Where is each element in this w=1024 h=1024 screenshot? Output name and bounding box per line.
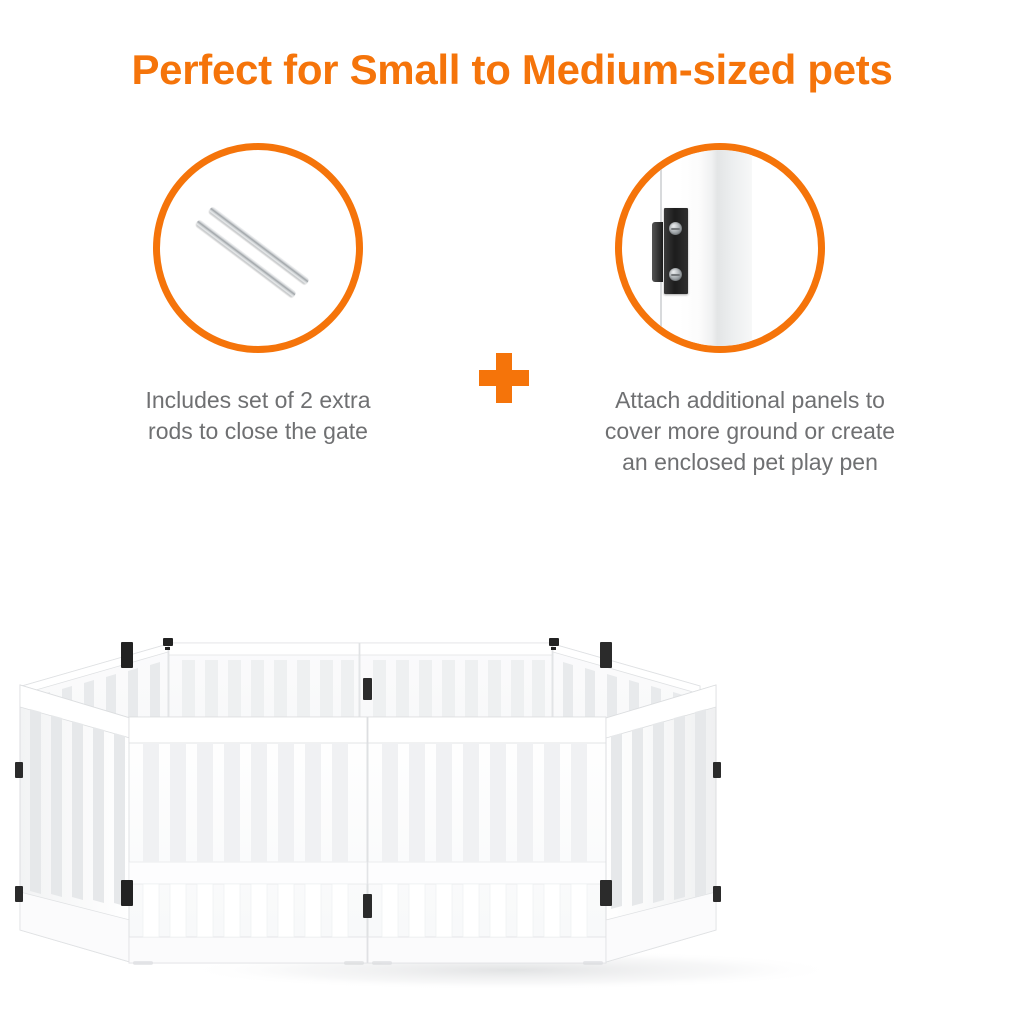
hinge-caption-line-2: cover more ground or create bbox=[520, 416, 980, 447]
hinge-closeup-icon bbox=[622, 150, 818, 346]
hinge-caption: Attach additional panels to cover more g… bbox=[520, 385, 980, 478]
folding-pet-gate-illustration bbox=[0, 500, 1024, 1000]
gate-post-icon bbox=[680, 143, 752, 353]
plus-icon-vertical-bar bbox=[496, 353, 512, 403]
hinge-caption-line-1: Attach additional panels to bbox=[520, 385, 980, 416]
hinge-circle-frame bbox=[615, 143, 825, 353]
rods-caption-line-1: Includes set of 2 extra bbox=[40, 385, 476, 416]
screw-icon bbox=[669, 268, 682, 281]
gate-panel-left-side bbox=[15, 685, 130, 962]
hinge-plate-icon bbox=[664, 208, 688, 294]
rods-circle-frame bbox=[153, 143, 363, 353]
hinge-knuckle-icon bbox=[652, 222, 663, 282]
product-image bbox=[0, 500, 1024, 1000]
page-title: Perfect for Small to Medium-sized pets bbox=[0, 46, 1024, 94]
feature-row: Includes set of 2 extra rods to close th… bbox=[0, 130, 1024, 490]
rods-caption-line-2: rods to close the gate bbox=[40, 416, 476, 447]
metal-rods-icon bbox=[160, 150, 356, 346]
hinge-caption-line-3: an enclosed pet play pen bbox=[520, 447, 980, 478]
product-feature-page: Perfect for Small to Medium-sized pets I… bbox=[0, 0, 1024, 1024]
gate-panel-front-right bbox=[363, 678, 606, 963]
rods-caption: Includes set of 2 extra rods to close th… bbox=[40, 385, 476, 447]
screw-icon bbox=[669, 222, 682, 235]
